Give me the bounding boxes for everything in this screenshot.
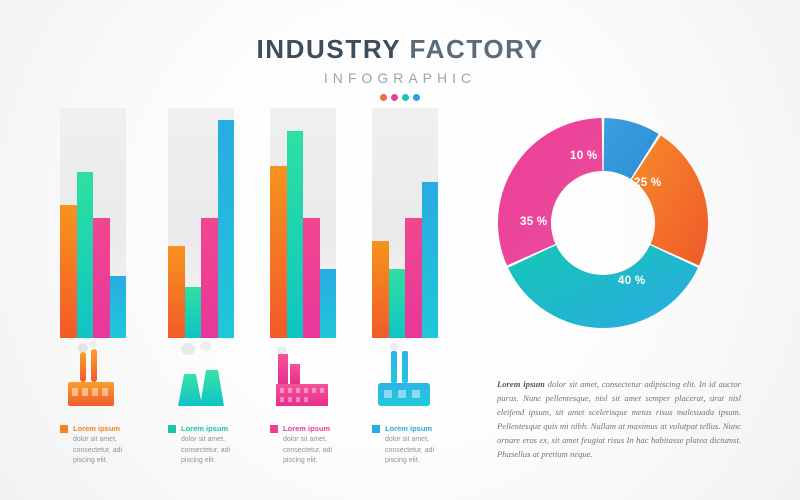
legend-title-4: Lorem ipsum — [385, 424, 432, 433]
legend-body-4: dolor sit amet, consectetur, adi piscing… — [385, 435, 443, 467]
dot-icon-1 — [380, 94, 387, 101]
legend-swatch-icon-3 — [270, 425, 278, 433]
legend-item-3[interactable]: Lorem ipsumdolor sit amet, consectetur, … — [270, 424, 348, 467]
bar-panel-1 — [60, 108, 126, 338]
bar-2-pink — [201, 218, 218, 338]
bar-chart-legend: Lorem ipsumdolor sit amet, consectetur, … — [60, 424, 460, 484]
donut-chart: 10 %25 %40 %35 % — [492, 112, 714, 334]
legend-item-4[interactable]: Lorem ipsumdolor sit amet, consectetur, … — [372, 424, 450, 467]
legend-body-2: dolor sit amet, consectetur, adi piscing… — [181, 435, 239, 467]
title-part-2: FACTORY — [410, 34, 544, 64]
page-subtitle: INFOGRAPHIC — [0, 70, 800, 86]
header: INDUSTRY FACTORY INFOGRAPHIC — [0, 34, 800, 101]
donut-slice-3 — [508, 245, 698, 328]
donut-label-3: 40 % — [618, 275, 645, 287]
bar-4-green — [389, 269, 406, 338]
legend-title-1: Lorem ipsum — [73, 424, 120, 433]
paragraph-lead: Lorem ipsum — [497, 379, 545, 389]
legend-title-2: Lorem ipsum — [181, 424, 228, 433]
legend-head-2: Lorem ipsum — [168, 424, 246, 433]
bar-3-orange — [270, 166, 287, 339]
bar-4-pink — [405, 218, 422, 338]
dot-icon-3 — [402, 94, 409, 101]
donut-label-4: 35 % — [520, 216, 547, 228]
factory-icon-2 — [168, 340, 234, 418]
bar-3-blue — [320, 269, 337, 338]
legend-body-1: dolor sit amet, consectetur, adi piscing… — [73, 435, 131, 467]
bar-4-blue — [422, 182, 439, 338]
legend-swatch-icon-4 — [372, 425, 380, 433]
dot-icon-2 — [391, 94, 398, 101]
bar-chart — [60, 108, 460, 338]
legend-swatch-icon-2 — [168, 425, 176, 433]
page-title: INDUSTRY FACTORY — [0, 34, 800, 65]
bar-1-pink — [93, 218, 110, 338]
legend-item-2[interactable]: Lorem ipsumdolor sit amet, consectetur, … — [168, 424, 246, 467]
description-paragraph: Lorem ipsum dolor sit amet, consectetur … — [497, 378, 741, 462]
dot-icon-4 — [413, 94, 420, 101]
bar-panel-4 — [372, 108, 438, 338]
bar-group-4 — [372, 108, 438, 338]
factory-icon-3 — [270, 340, 336, 418]
legend-head-4: Lorem ipsum — [372, 424, 450, 433]
legend-head-3: Lorem ipsum — [270, 424, 348, 433]
bar-1-blue — [110, 276, 127, 338]
bar-panel-3 — [270, 108, 336, 338]
factory-icon-4 — [372, 340, 438, 418]
factory-icon-1 — [60, 340, 126, 418]
donut-label-1: 10 % — [570, 150, 597, 162]
bar-panel-2 — [168, 108, 234, 338]
bar-3-pink — [303, 218, 320, 338]
legend-item-1[interactable]: Lorem ipsumdolor sit amet, consectetur, … — [60, 424, 138, 467]
decorative-dots — [0, 94, 800, 101]
legend-title-3: Lorem ipsum — [283, 424, 330, 433]
legend-body-3: dolor sit amet, consectetur, adi piscing… — [283, 435, 341, 467]
factory-icons-row — [60, 340, 460, 418]
bar-group-1 — [60, 108, 126, 338]
bar-2-orange — [168, 246, 185, 338]
bar-group-3 — [270, 108, 336, 338]
donut-slice-4 — [498, 118, 602, 265]
legend-head-1: Lorem ipsum — [60, 424, 138, 433]
title-part-1: INDUSTRY — [256, 34, 400, 64]
donut-label-2: 25 % — [634, 177, 661, 189]
bar-group-2 — [168, 108, 234, 338]
bar-1-green — [77, 172, 94, 338]
bar-2-green — [185, 287, 202, 338]
bar-2-blue — [218, 120, 235, 339]
bar-3-green — [287, 131, 304, 338]
paragraph-text: dolor sit amet, consectetur adipiscing e… — [497, 379, 741, 459]
legend-swatch-icon-1 — [60, 425, 68, 433]
bar-4-orange — [372, 241, 389, 338]
bar-1-orange — [60, 205, 77, 338]
